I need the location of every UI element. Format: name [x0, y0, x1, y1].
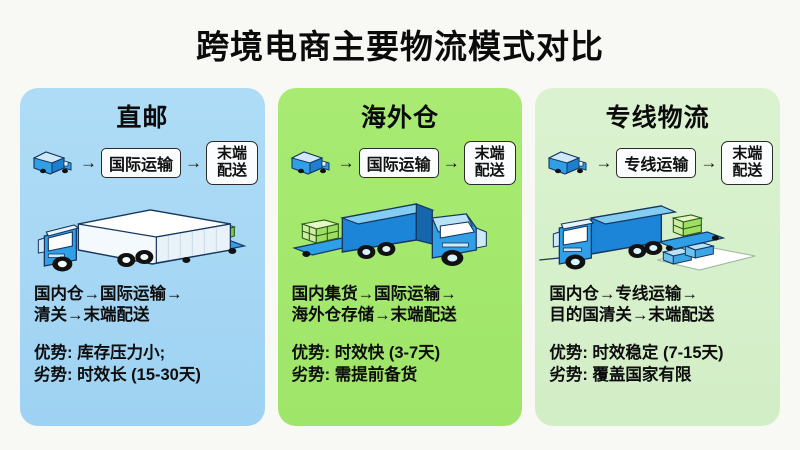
- last-mile-line2: 配送: [217, 163, 247, 180]
- flow-diagram: → 国际运输 → 末端 配送: [288, 140, 515, 186]
- panel-direct-mail[interactable]: 直邮 → 国际运输 → 末端: [20, 88, 265, 426]
- panel-body-text: 国内仓→国际运输→ 清关→末端配送 优势: 库存压力小; 劣势: 时效长 (15…: [34, 284, 255, 387]
- flow-diagram: → 专线运输 → 末端 配送: [545, 140, 772, 186]
- blue-truck-with-pallet-icon: [278, 188, 523, 280]
- flow-arrow-2: →: [443, 154, 460, 171]
- pros-cons: 优势: 时效快 (3-7天) 劣势: 需提前备货: [292, 342, 513, 387]
- delivery-truck-icon: [288, 144, 334, 183]
- panel-title: 专线物流: [535, 98, 780, 134]
- flow-diagram: → 国际运输 → 末端 配送: [30, 140, 257, 186]
- panel-body-text: 国内集货→国际运输→ 海外仓存储→末端配送 优势: 时效快 (3-7天) 劣势:…: [292, 284, 513, 387]
- flow-step-last-mile[interactable]: 末端 配送: [721, 141, 773, 185]
- pros-cons: 优势: 时效稳定 (7-15天) 劣势: 覆盖国家有限: [549, 342, 770, 387]
- panel-title: 直邮: [20, 98, 265, 134]
- flow-step-last-mile[interactable]: 末端 配送: [206, 141, 258, 185]
- route-description: 国内仓→专线运输→ 目的国清关→末端配送: [549, 284, 770, 326]
- delivery-truck-icon: [30, 144, 76, 183]
- panel-body-text: 国内仓→专线运输→ 目的国清关→末端配送 优势: 时效稳定 (7-15天) 劣势…: [549, 284, 770, 387]
- panel-overseas-warehouse[interactable]: 海外仓 → 国际运输 → 末端: [278, 88, 523, 426]
- route-line-2: 清关→末端配送: [34, 305, 255, 326]
- pros-cons: 优势: 库存压力小; 劣势: 时效长 (15-30天): [34, 342, 255, 387]
- route-description: 国内集货→国际运输→ 海外仓存储→末端配送: [292, 284, 513, 326]
- advantage-text: 优势: 库存压力小;: [34, 342, 255, 364]
- page-title: 跨境电商主要物流模式对比: [0, 20, 800, 68]
- last-mile-line2: 配送: [475, 163, 505, 180]
- infographic-root: 跨境电商主要物流模式对比 直邮 → 国际运输: [0, 0, 800, 450]
- panel-dedicated-line[interactable]: 专线物流 → 专线运输 → 末端: [535, 88, 780, 426]
- route-line-2: 海外仓存储→末端配送: [292, 305, 513, 326]
- disadvantage-text: 劣势: 覆盖国家有限: [549, 364, 770, 386]
- route-line-1: 国内仓→专线运输→: [549, 285, 698, 303]
- panel-title: 海外仓: [278, 98, 523, 134]
- last-mile-line1: 末端: [217, 146, 247, 163]
- panel-container: 直邮 → 国际运输 → 末端: [20, 88, 780, 426]
- route-description: 国内仓→国际运输→ 清关→末端配送: [34, 284, 255, 326]
- truck-with-loading-dock-icon: [535, 188, 780, 280]
- flow-arrow-1: →: [338, 154, 355, 171]
- flow-step-dedicated-transport[interactable]: 专线运输: [616, 148, 696, 178]
- flow-step-international-transport[interactable]: 国际运输: [359, 148, 439, 178]
- flow-step-last-mile[interactable]: 末端 配送: [464, 141, 516, 185]
- flow-arrow-1: →: [80, 154, 97, 171]
- last-mile-line2: 配送: [732, 163, 762, 180]
- disadvantage-text: 劣势: 时效长 (15-30天): [34, 364, 255, 386]
- box-truck-with-pallet-icon: [20, 188, 265, 280]
- delivery-truck-icon: [545, 144, 591, 183]
- disadvantage-text: 劣势: 需提前备货: [292, 364, 513, 386]
- flow-arrow-1: →: [595, 154, 612, 171]
- flow-arrow-2: →: [700, 154, 717, 171]
- route-line-1: 国内仓→国际运输→: [34, 285, 183, 303]
- route-line-2: 目的国清关→末端配送: [549, 305, 770, 326]
- last-mile-line1: 末端: [475, 146, 505, 163]
- advantage-text: 优势: 时效快 (3-7天): [292, 342, 513, 364]
- route-line-1: 国内集货→国际运输→: [292, 285, 457, 303]
- last-mile-line1: 末端: [732, 146, 762, 163]
- flow-step-international-transport[interactable]: 国际运输: [101, 148, 181, 178]
- advantage-text: 优势: 时效稳定 (7-15天): [549, 342, 770, 364]
- flow-arrow-2: →: [185, 154, 202, 171]
